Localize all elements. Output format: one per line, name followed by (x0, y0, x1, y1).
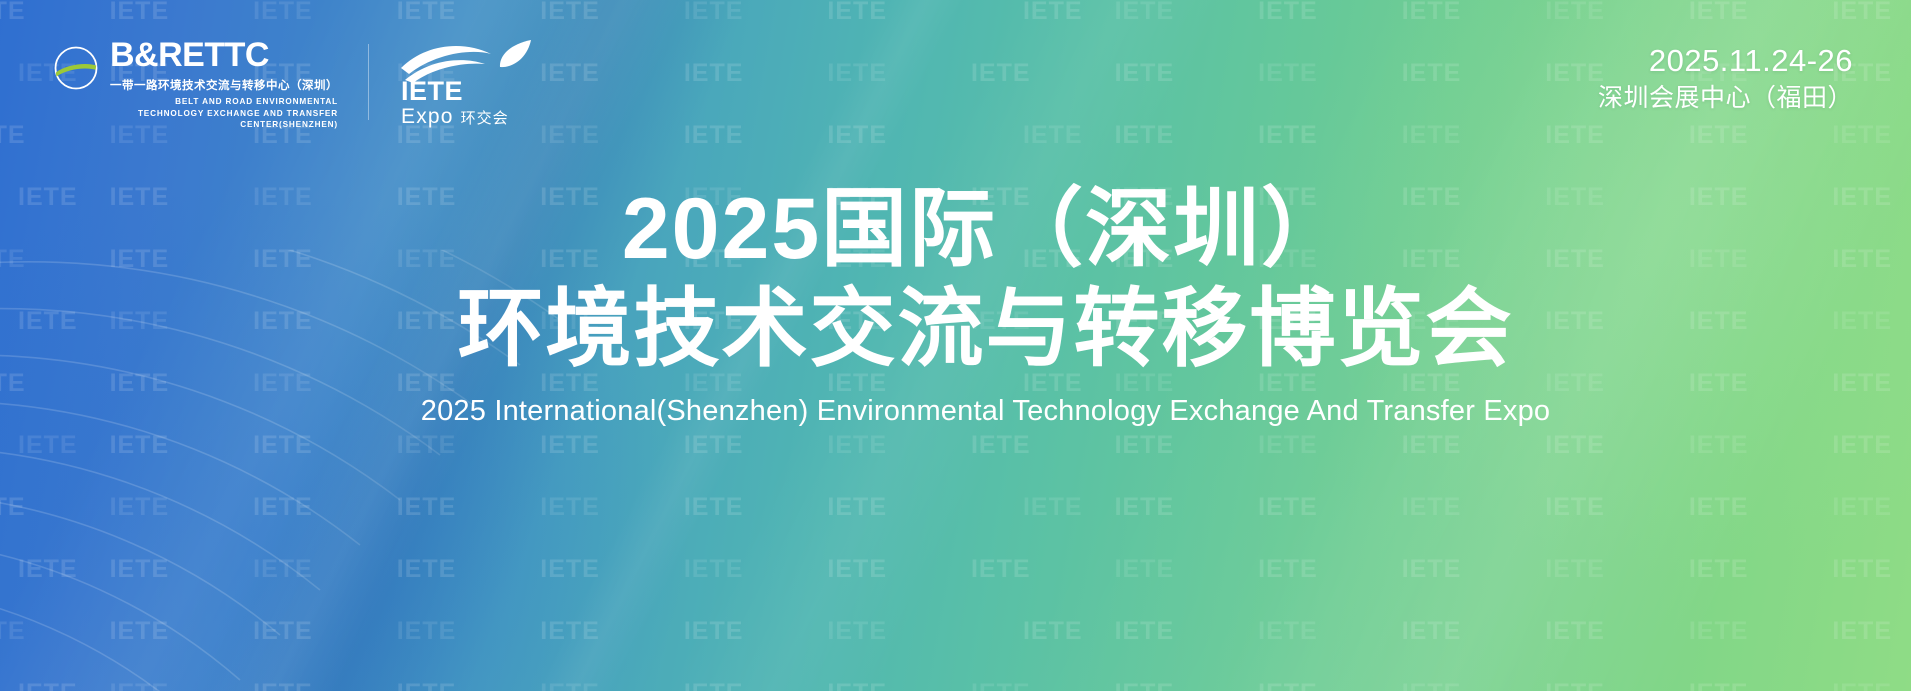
watermark-tile: IETE (678, 0, 822, 42)
title-line-2: 环境技术交流与转移博览会 (60, 286, 1911, 372)
title-line-1: 2025国际（深圳） (60, 186, 1911, 272)
event-banner: IETEIETEIETEIETEIETEIETEIETEIETEIETEIETE… (0, 0, 1911, 691)
watermark-tile: IETE (0, 600, 104, 662)
watermark-tile: IETE (965, 104, 1109, 166)
watermark-tile: IETE (1539, 662, 1683, 691)
watermark-tile: IETE (821, 42, 965, 104)
watermark-tile: IETE (1683, 0, 1827, 42)
watermark-tile: IETE (247, 662, 391, 691)
watermark-tile: IETE (1683, 600, 1827, 662)
brettc-english-line2: TECHNOLOGY EXCHANGE AND TRANSFER (110, 108, 338, 120)
watermark-tile: IETE (965, 0, 1109, 42)
brettc-english-line3: CENTER(SHENZHEN) (110, 119, 338, 131)
watermark-tile: IETE (534, 42, 678, 104)
watermark-tile: IETE (1396, 104, 1540, 166)
watermark-tile: IETE (0, 0, 104, 42)
watermark-tile: IETE (965, 538, 1109, 600)
watermark-tile: IETE (534, 600, 678, 662)
watermark-tile: IETE (1252, 0, 1396, 42)
watermark-tile: IETE (1396, 662, 1540, 691)
watermark-tile: IETE (1539, 0, 1683, 42)
watermark-tile: IETE (247, 600, 391, 662)
watermark-tile: IETE (1683, 476, 1827, 538)
watermark-tile: IETE (1252, 538, 1396, 600)
title-english: 2025 International(Shenzhen) Environment… (60, 394, 1911, 429)
logo-group: B&RETTC 一带一路环境技术交流与转移中心（深圳） BELT AND ROA… (52, 38, 535, 131)
watermark-tile: IETE (1396, 538, 1540, 600)
logo-divider (368, 44, 369, 120)
watermark-tile: IETE (678, 600, 822, 662)
watermark-tile: IETE (1826, 538, 1911, 600)
watermark-tile: IETE (1683, 662, 1827, 691)
watermark-tile: IETE (1539, 538, 1683, 600)
brettc-logo[interactable]: B&RETTC 一带一路环境技术交流与转移中心（深圳） BELT AND ROA… (52, 38, 338, 131)
event-venue: 深圳会展中心（福田） (1598, 83, 1853, 114)
watermark-tile: IETE (821, 538, 965, 600)
watermark-tile: IETE (1252, 42, 1396, 104)
watermark-tile: IETE (1252, 662, 1396, 691)
watermark-tile: IETE (104, 600, 248, 662)
brettc-english-line1: BELT AND ROAD ENVIRONMENTAL (110, 96, 338, 108)
watermark-tile: IETE (1539, 476, 1683, 538)
watermark-tile: IETE (1396, 600, 1540, 662)
iete-chinese: 环交会 (461, 111, 509, 126)
watermark-tile: IETE (678, 104, 822, 166)
watermark-tile: IETE (1109, 476, 1253, 538)
event-meta: 2025.11.24-26 深圳会展中心（福田） (1598, 44, 1853, 114)
watermark-tile: IETE (1396, 0, 1540, 42)
watermark-tile: IETE (1396, 476, 1540, 538)
watermark-tile: IETE (534, 104, 678, 166)
watermark-tile: IETE (534, 662, 678, 691)
watermark-tile: IETE (821, 662, 965, 691)
watermark-tile: IETE (104, 476, 248, 538)
watermark-tile: IETE (391, 476, 535, 538)
watermark-tile: IETE (965, 662, 1109, 691)
watermark-tile: IETE (1826, 476, 1911, 538)
watermark-tile: IETE (247, 476, 391, 538)
brettc-english-block: BELT AND ROAD ENVIRONMENTAL TECHNOLOGY E… (110, 96, 338, 131)
watermark-tile: IETE (534, 476, 678, 538)
watermark-tile: IETE (534, 538, 678, 600)
watermark-tile: IETE (247, 538, 391, 600)
watermark-tile: IETE (678, 538, 822, 600)
watermark-tile: IETE (1109, 42, 1253, 104)
watermark-tile: IETE (1109, 662, 1253, 691)
watermark-tile: IETE (1826, 0, 1911, 42)
iete-subtitle: Expo 环交会 (401, 106, 509, 127)
watermark-tile: IETE (1396, 42, 1540, 104)
watermark-tile: IETE (0, 662, 104, 691)
watermark-tile: IETE (104, 538, 248, 600)
watermark-tile: IETE (1539, 600, 1683, 662)
watermark-tile: IETE (391, 538, 535, 600)
watermark-tile: IETE (965, 476, 1109, 538)
watermark-tile: IETE (391, 600, 535, 662)
watermark-tile: IETE (821, 0, 965, 42)
watermark-tile: IETE (104, 662, 248, 691)
watermark-tile: IETE (965, 42, 1109, 104)
watermark-tile: IETE (821, 476, 965, 538)
watermark-tile: IETE (1683, 538, 1827, 600)
watermark-tile: IETE (1109, 0, 1253, 42)
watermark-tile: IETE (1109, 538, 1253, 600)
watermark-tile: IETE (678, 476, 822, 538)
watermark-tile: IETE (0, 476, 104, 538)
watermark-tile: IETE (391, 0, 535, 42)
event-date: 2025.11.24-26 (1598, 44, 1853, 79)
watermark-tile: IETE (965, 600, 1109, 662)
iete-expo-logo[interactable]: IETE Expo 环交会 (399, 38, 535, 128)
watermark-tile: IETE (821, 600, 965, 662)
brettc-name: B&RETTC (110, 38, 338, 72)
watermark-tile: IETE (1109, 600, 1253, 662)
headline-block: 2025国际（深圳） 环境技术交流与转移博览会 2025 Internation… (0, 186, 1911, 429)
watermark-tile: IETE (1252, 600, 1396, 662)
watermark-tile: IETE (534, 0, 678, 42)
watermark-tile: IETE (1252, 104, 1396, 166)
watermark-tile: IETE (1826, 662, 1911, 691)
watermark-tile: IETE (1109, 104, 1253, 166)
iete-abbr: IETE (401, 78, 463, 105)
brettc-text-block: B&RETTC 一带一路环境技术交流与转移中心（深圳） BELT AND ROA… (110, 38, 338, 131)
globe-ellipse-mark (52, 44, 100, 92)
iete-expo-word: Expo (401, 106, 454, 127)
watermark-tile: IETE (1826, 600, 1911, 662)
watermark-tile: IETE (391, 662, 535, 691)
watermark-tile: IETE (1252, 476, 1396, 538)
watermark-tile: IETE (678, 662, 822, 691)
watermark-tile: IETE (821, 104, 965, 166)
brettc-chinese-name: 一带一路环境技术交流与转移中心（深圳） (110, 77, 338, 93)
watermark-tile: IETE (678, 42, 822, 104)
watermark-tile: IETE (0, 538, 104, 600)
